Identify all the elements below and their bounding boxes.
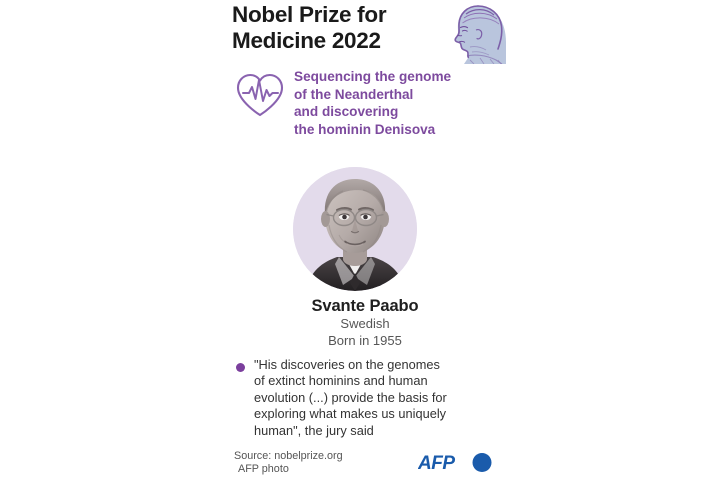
title-line-2: Medicine 2022 [232,28,444,54]
footer: Source: nobelprize.org AFP photo AFP [234,450,500,478]
afp-logo: AFP [418,451,498,475]
quote-line-4: exploring what makes us uniquely [254,406,502,422]
quote-line-2: of extinct hominins and human [254,373,502,389]
quote-line-3: evolution (...) provide the basis for [254,390,502,406]
title-row: Nobel Prize for Medicine 2022 [232,2,512,64]
laureate-nationality: Swedish [230,316,500,333]
profile-bust-illustration [444,2,516,64]
afp-wordmark: AFP [418,453,455,474]
subtitle-row: Sequencing the genome of the Neanderthal… [232,68,502,152]
bullet-icon [236,363,245,372]
quote-text: "His discoveries on the genomes of extin… [254,357,502,439]
photo-credit-line: AFP photo [234,463,343,476]
source-credit: Source: nobelprize.org AFP photo [234,450,343,476]
laureate-name-block: Svante Paabo Swedish Born in 1955 [230,296,500,349]
laureate-portrait [293,167,417,291]
subtitle-line-3: and discovering [294,103,499,121]
subtitle-text: Sequencing the genome of the Neanderthal… [294,68,499,138]
laureate-birth: Born in 1955 [230,333,500,350]
afp-dot-icon [473,453,492,472]
laureate-name: Svante Paabo [230,296,500,316]
heart-pulse-icon [232,70,288,120]
infographic-canvas: Nobel Prize for Medicine 2022 [0,0,720,479]
title-line-1: Nobel Prize for [232,2,444,28]
subtitle-line-2: of the Neanderthal [294,86,499,104]
subtitle-line-1: Sequencing the genome [294,68,499,86]
portrait-photo [293,167,417,291]
subtitle-line-4: the hominin Denisova [294,121,499,139]
quote-line-5: human", the jury said [254,423,502,439]
source-line: Source: nobelprize.org [234,450,343,463]
page-title: Nobel Prize for Medicine 2022 [232,2,444,54]
quote-line-1: "His discoveries on the genomes [254,357,502,373]
